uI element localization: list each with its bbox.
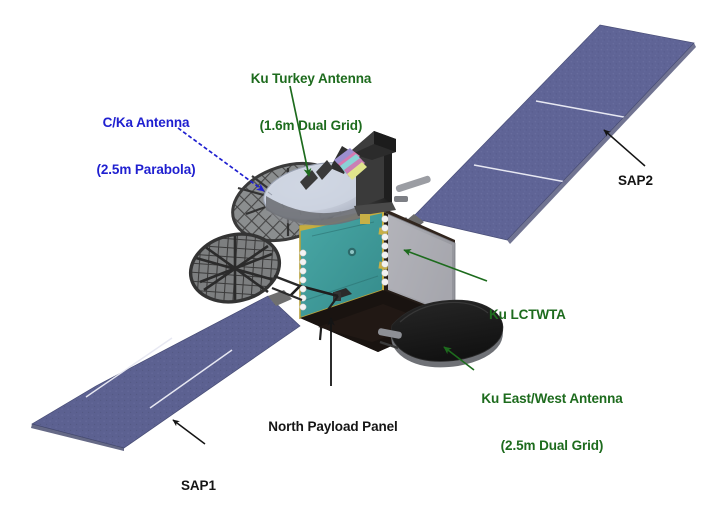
label-sap2-text: SAP2 (618, 173, 688, 189)
satellite-diagram: Ku Turkey Antenna (1.6m Dual Grid) C/Ka … (0, 0, 703, 476)
label-sap1: SAP1 (181, 447, 251, 525)
label-sap2: SAP2 (618, 142, 688, 220)
label-ku-east-west-antenna-line1: Ku East/West Antenna (449, 391, 655, 407)
label-ku-east-west-antenna: Ku East/West Antenna (2.5m Dual Grid) (449, 360, 655, 484)
label-ku-turkey-antenna: Ku Turkey Antenna (1.6m Dual Grid) (221, 40, 401, 164)
label-north-payload-panel: North Payload Panel (239, 388, 427, 466)
label-cka-antenna-line1: C/Ka Antenna (60, 115, 232, 131)
label-cka-antenna: C/Ka Antenna (2.5m Parabola) (60, 84, 232, 208)
label-ku-turkey-antenna-line1: Ku Turkey Antenna (221, 71, 401, 87)
leader-sap1 (173, 420, 205, 444)
label-ku-lctwta: Ku LCTWTA (489, 276, 619, 354)
label-sap1-text: SAP1 (181, 478, 251, 494)
label-cka-antenna-line2: (2.5m Parabola) (60, 162, 232, 178)
label-ku-lctwta-text: Ku LCTWTA (489, 307, 619, 323)
label-north-payload-panel-text: North Payload Panel (239, 419, 427, 435)
label-ku-turkey-antenna-line2: (1.6m Dual Grid) (221, 118, 401, 134)
label-ku-east-west-antenna-line2: (2.5m Dual Grid) (449, 438, 655, 454)
